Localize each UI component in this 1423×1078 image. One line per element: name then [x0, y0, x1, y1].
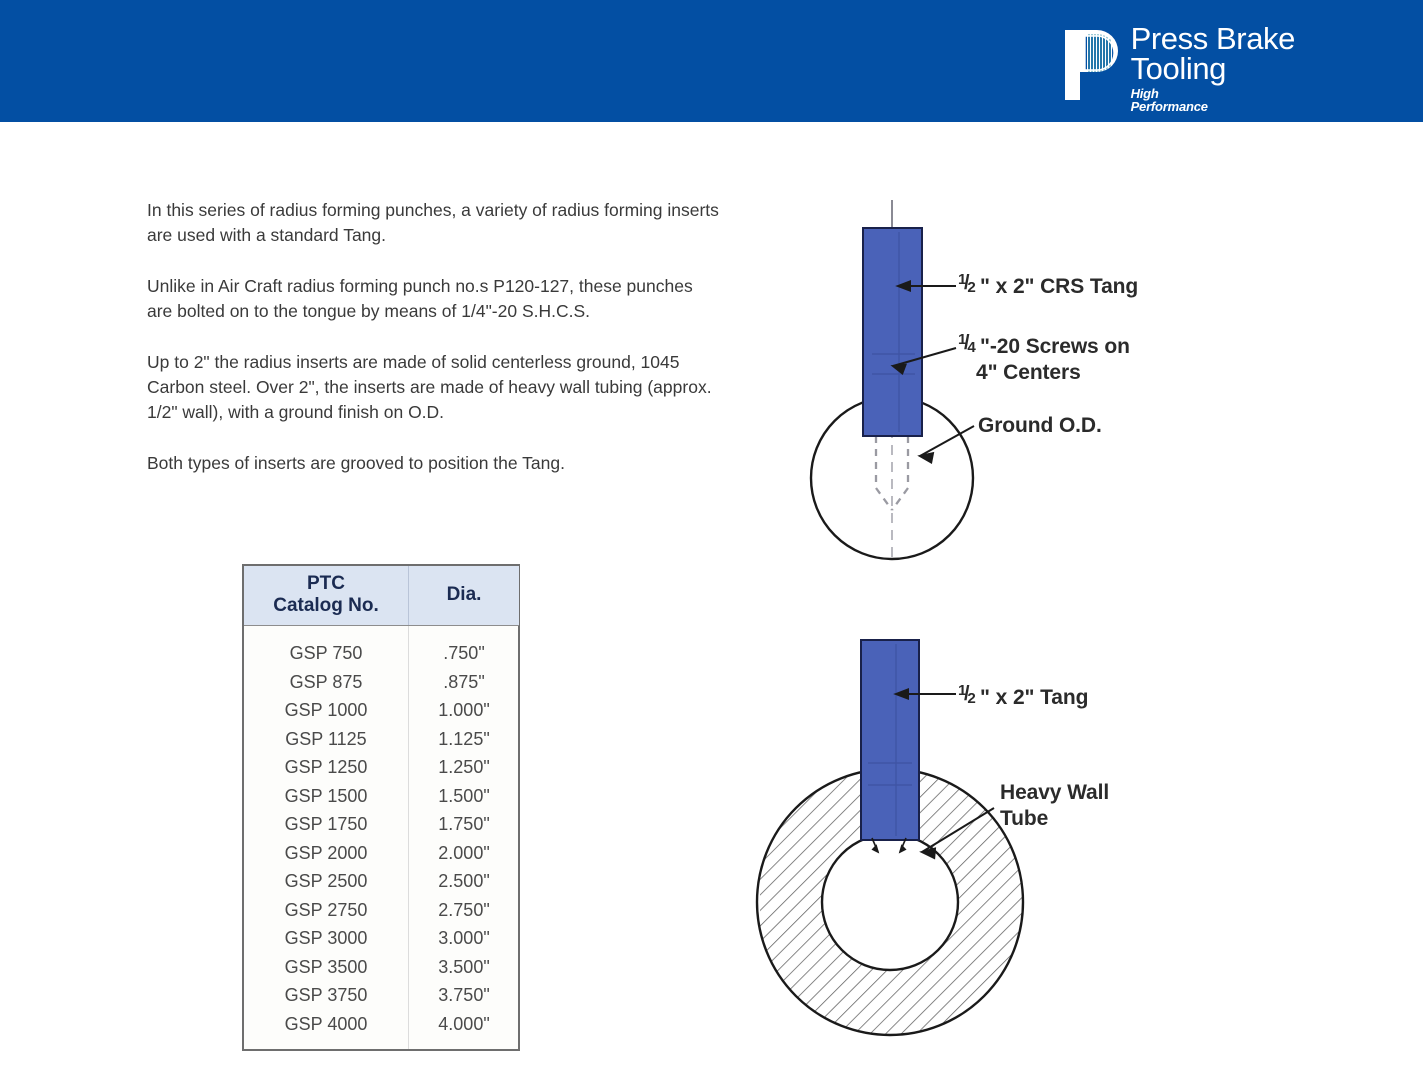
callout-ground-od: Ground O.D. [978, 413, 1102, 439]
cell-dia: 3.000" [409, 924, 520, 953]
press-brake-p-logo-icon [1059, 24, 1121, 106]
table-row: GSP 875.875" [244, 668, 519, 697]
cell-catalog-no: GSP 1125 [244, 725, 409, 754]
cell-catalog-no: GSP 2500 [244, 867, 409, 896]
ptc-catalog-table: PTC Catalog No. Dia. GSP 750.750"GSP 875… [242, 564, 520, 1051]
cell-catalog-no: GSP 1250 [244, 753, 409, 782]
fraction-one-quarter: 1 / 4 [958, 332, 980, 353]
paragraph-grooved: Both types of inserts are grooved to pos… [147, 451, 722, 476]
table-row: GSP 30003.000" [244, 924, 519, 953]
cell-catalog-no: GSP 3750 [244, 981, 409, 1010]
table-row: GSP 27502.750" [244, 896, 519, 925]
cell-dia: 2.750" [409, 896, 520, 925]
table-row: GSP 25002.500" [244, 867, 519, 896]
fraction-denominator: 4 [967, 335, 975, 361]
table-row: GSP 750.750" [244, 626, 519, 668]
table-row: GSP 40004.000" [244, 1010, 519, 1050]
cell-dia: 1.125" [409, 725, 520, 754]
cell-dia: 2.000" [409, 839, 520, 868]
description-text-column: In this series of radius forming punches… [147, 198, 722, 476]
cell-catalog-no: GSP 750 [244, 626, 409, 668]
cell-catalog-no: GSP 4000 [244, 1010, 409, 1050]
callout-screws-text: "-20 Screws on [980, 335, 1130, 358]
fraction-denominator: 2 [967, 275, 975, 301]
brand-tagline: High Performance [1131, 87, 1295, 113]
callout-heavy-wall-tube: Heavy Wall Tube [1000, 780, 1109, 832]
header-catalog-line-2: Catalog No. [273, 595, 379, 616]
brand-logo: Press Brake Tooling High Performance [1059, 22, 1295, 113]
table-row: GSP 37503.750" [244, 981, 519, 1010]
callout-heavy-wall-line-1: Heavy Wall [1000, 780, 1109, 806]
tube-inner-circle [822, 834, 958, 970]
cell-dia: 2.500" [409, 867, 520, 896]
table-row: GSP 35003.500" [244, 953, 519, 982]
header-catalog-line-1: PTC [307, 573, 345, 594]
cell-catalog-no: GSP 1500 [244, 782, 409, 811]
table-row: GSP 20002.000" [244, 839, 519, 868]
cell-catalog-no: GSP 3500 [244, 953, 409, 982]
cell-catalog-no: GSP 1000 [244, 696, 409, 725]
cell-dia: 3.500" [409, 953, 520, 982]
callout-heavy-wall-line-2: Tube [1000, 806, 1109, 832]
crs-tang-body [863, 228, 922, 436]
table-row: GSP 11251.125" [244, 725, 519, 754]
callout-screws: 1 / 4 "-20 Screws on 4" Centers [958, 332, 1130, 386]
cell-dia: 1.000" [409, 696, 520, 725]
paragraph-material: Up to 2" the radius inserts are made of … [147, 350, 722, 425]
tagline-line-2: Performance [1131, 100, 1295, 113]
brand-wordmark: Press Brake Tooling High Performance [1131, 22, 1295, 113]
cell-dia: 3.750" [409, 981, 520, 1010]
cell-catalog-no: GSP 2750 [244, 896, 409, 925]
cell-catalog-no: GSP 1750 [244, 810, 409, 839]
fraction-one-half: 1 / 2 [958, 683, 980, 704]
column-header-catalog-no: PTC Catalog No. [244, 566, 409, 626]
table-row: GSP 17501.750" [244, 810, 519, 839]
cell-dia: 1.750" [409, 810, 520, 839]
table-header-row: PTC Catalog No. Dia. [244, 566, 519, 626]
cell-dia: 1.250" [409, 753, 520, 782]
callout-screws-line-2: 4" Centers [958, 360, 1130, 386]
callout-crs-tang-text: " x 2" CRS Tang [980, 275, 1138, 298]
cell-catalog-no: GSP 3000 [244, 924, 409, 953]
fraction-denominator: 2 [967, 686, 975, 712]
cell-dia: 1.500" [409, 782, 520, 811]
callout-crs-tang: 1 / 2 " x 2" CRS Tang [958, 272, 1138, 300]
cell-dia: .750" [409, 626, 520, 668]
callout-tang: 1 / 2 " x 2" Tang [958, 683, 1088, 711]
brand-line-2: Tooling [1131, 54, 1295, 84]
table-row: GSP 12501.250" [244, 753, 519, 782]
callout-tang-text: " x 2" Tang [980, 686, 1088, 709]
cell-dia: 4.000" [409, 1010, 520, 1050]
cell-catalog-no: GSP 2000 [244, 839, 409, 868]
brand-line-1: Press Brake [1131, 24, 1295, 54]
tang-body [861, 640, 919, 840]
table-row: GSP 15001.500" [244, 782, 519, 811]
cell-catalog-no: GSP 875 [244, 668, 409, 697]
leader-crs-tang [898, 282, 956, 291]
paragraph-bolting: Unlike in Air Craft radius forming punch… [147, 274, 722, 324]
table-row: GSP 10001.000" [244, 696, 519, 725]
column-header-dia: Dia. [409, 566, 520, 626]
cell-dia: .875" [409, 668, 520, 697]
table-body: GSP 750.750"GSP 875.875"GSP 10001.000"GS… [244, 626, 519, 1050]
fraction-one-half: 1 / 2 [958, 272, 980, 293]
paragraph-intro: In this series of radius forming punches… [147, 198, 722, 248]
header-band: Press Brake Tooling High Performance [0, 0, 1423, 122]
